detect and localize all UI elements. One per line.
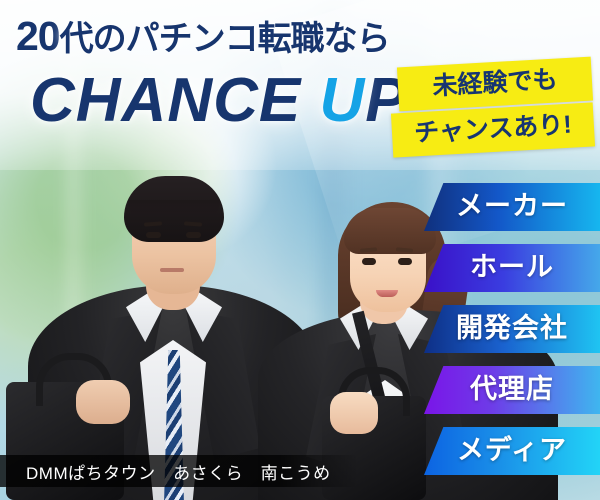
male-hair-fringe (128, 200, 220, 228)
credit-caption-text: DMMぱちタウン あさくら 南こうめ (0, 459, 331, 484)
male-mouth (160, 268, 184, 272)
headline-text: 20代のパチンコ転職なら (16, 16, 390, 57)
category-label-development-company: 開発会社 (456, 315, 568, 344)
female-hand (330, 392, 378, 434)
credit-caption-bar: DMMぱちタウン あさくら 南こうめ (0, 455, 358, 487)
female-eye-right (398, 258, 412, 265)
category-label-agency: 代理店 (470, 376, 554, 405)
category-label-hall: ホール (470, 254, 554, 283)
category-label-maker: メーカー (456, 193, 568, 222)
male-hand (76, 380, 130, 424)
category-label-media: メディア (457, 437, 567, 466)
headline-number: 20 (16, 13, 60, 59)
badge-no-experience-label: 未経験でも (432, 67, 558, 99)
category-button-maker[interactable]: メーカー (424, 183, 600, 231)
category-button-agency[interactable]: 代理店 (424, 366, 600, 414)
badge-chance-available-label: チャンスあり! (414, 112, 573, 146)
chance-up-logo: CHANCE UP (30, 70, 408, 132)
category-button-hall[interactable]: ホール (424, 244, 600, 292)
male-eye-right (186, 232, 201, 238)
male-eye-left (146, 232, 161, 238)
category-button-development-company[interactable]: 開発会社 (424, 305, 600, 353)
female-mouth (376, 290, 398, 297)
logo-letter-u: U (319, 66, 365, 135)
category-button-media[interactable]: メディア (424, 427, 600, 475)
recruitment-banner[interactable]: 20代のパチンコ転職なら CHANCE UP 未経験でも チャンスあり! メーカ… (0, 0, 600, 500)
headline-rest: 代のパチンコ転職なら (60, 20, 390, 58)
female-bangs (344, 208, 436, 254)
female-eye-left (362, 258, 376, 265)
logo-word-chance: CHANCE (30, 66, 301, 135)
category-button-list: メーカー ホール 開発会社 代理店 メディア (424, 183, 600, 488)
